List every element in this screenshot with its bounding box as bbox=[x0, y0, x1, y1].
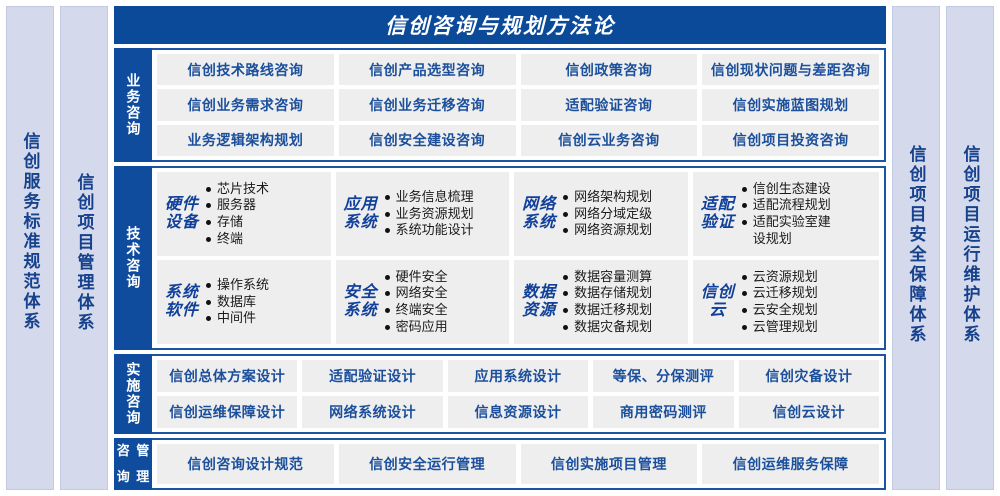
band-body-implementation-consulting: 信创总体方案设计 适配验证设计 应用系统设计 等保、分保测评 信创灾备设计 信创… bbox=[152, 354, 886, 434]
list-item[interactable]: 网络系统设计 bbox=[302, 396, 442, 428]
tech-card-hardware-items: 芯片技术 服务器 存储 终端 bbox=[205, 181, 325, 248]
tech-card-hardware-title: 硬件 设备 bbox=[165, 196, 199, 233]
pillar-operation-maintenance-label: 信创项目运行维护体系 bbox=[962, 145, 979, 345]
list-item[interactable]: 信创灾备设计 bbox=[739, 360, 879, 392]
list-item: 数据库 bbox=[205, 294, 325, 311]
pillar-service-standard: 信创服务标准规范体系 bbox=[6, 6, 54, 490]
tech-card-application-system[interactable]: 应用 系统 业务信息梳理 业务资源规划 系统功能设计 bbox=[336, 172, 510, 256]
band-label-char-4: 理 bbox=[136, 470, 149, 485]
list-item: 云管理规划 bbox=[741, 319, 873, 336]
list-item[interactable]: 等保、分保测评 bbox=[593, 360, 733, 392]
list-item: 密码应用 bbox=[384, 319, 504, 336]
list-item[interactable]: 适配验证咨询 bbox=[521, 89, 698, 120]
pillar-project-management: 信创项目管理体系 bbox=[60, 6, 108, 490]
list-item: 数据容量测算 bbox=[562, 269, 682, 286]
list-item: 适配实验室建 bbox=[741, 214, 873, 231]
band-business-consulting: 业务咨询 信创技术路线咨询 信创产品选型咨询 信创政策咨询 信创现状问题与差距咨… bbox=[114, 48, 886, 162]
band-label-implementation-consulting: 实施咨询 bbox=[114, 354, 152, 434]
tech-card-system-software-items: 操作系统 数据库 中间件 bbox=[205, 277, 325, 327]
list-item[interactable]: 信创运维保障设计 bbox=[157, 396, 297, 428]
list-item-continuation: 设规划 bbox=[741, 231, 873, 248]
list-item[interactable]: 信创政策咨询 bbox=[521, 54, 698, 85]
band-consulting-management: 咨 管 询 理 信创咨询设计规范 信创安全运行管理 信创实施项目管理 信创运维服… bbox=[114, 438, 886, 490]
table-row: 信创总体方案设计 适配验证设计 应用系统设计 等保、分保测评 信创灾备设计 bbox=[157, 360, 879, 392]
band-label-implementation-consulting-text: 实施咨询 bbox=[126, 362, 141, 426]
list-item[interactable]: 信创安全运行管理 bbox=[339, 444, 516, 484]
pillar-service-standard-label: 信创服务标准规范体系 bbox=[22, 132, 39, 332]
band-technical-consulting: 技术咨询 硬件 设备 芯片技术 服务器 存储 终端 bbox=[114, 166, 886, 350]
pillar-project-management-label: 信创项目管理体系 bbox=[76, 173, 93, 333]
band-label-business-consulting-text: 业务咨询 bbox=[126, 73, 141, 137]
list-item: 数据迁移规划 bbox=[562, 302, 682, 319]
table-row: 信创技术路线咨询 信创产品选型咨询 信创政策咨询 信创现状问题与差距咨询 bbox=[157, 54, 879, 85]
tech-card-data-resource-items: 数据容量测算 数据存储规划 数据迁移规划 数据灾备规划 bbox=[562, 269, 682, 336]
band-label-char-1: 咨 bbox=[117, 444, 130, 459]
tech-card-hardware[interactable]: 硬件 设备 芯片技术 服务器 存储 终端 bbox=[157, 172, 331, 256]
tech-card-network-system-items: 网络架构规划 网络分域定级 网络资源规划 bbox=[562, 189, 682, 239]
tech-card-data-resource[interactable]: 数据 资源 数据容量测算 数据存储规划 数据迁移规划 数据灾备规划 bbox=[514, 260, 688, 344]
list-item[interactable]: 信创云设计 bbox=[739, 396, 879, 428]
diagram-root: 信创服务标准规范体系 信创项目管理体系 信创咨询与规划方法论 业务咨询 信创技术… bbox=[0, 0, 1000, 496]
list-item: 终端安全 bbox=[384, 302, 504, 319]
list-item: 业务资源规划 bbox=[384, 206, 504, 223]
list-item: 网络资源规划 bbox=[562, 222, 682, 239]
center-column: 信创咨询与规划方法论 业务咨询 信创技术路线咨询 信创产品选型咨询 信创政策咨询… bbox=[114, 6, 886, 490]
table-row: 业务逻辑架构规划 信创安全建设咨询 信创云业务咨询 信创项目投资咨询 bbox=[157, 125, 879, 156]
list-item[interactable]: 应用系统设计 bbox=[448, 360, 588, 392]
list-item[interactable]: 信创云业务咨询 bbox=[521, 125, 698, 156]
list-item[interactable]: 信创实施项目管理 bbox=[521, 444, 698, 484]
list-item[interactable]: 信创产品选型咨询 bbox=[339, 54, 516, 85]
list-item[interactable]: 信创安全建设咨询 bbox=[339, 125, 516, 156]
list-item: 适配流程规划 bbox=[741, 197, 873, 214]
list-item[interactable]: 信创咨询设计规范 bbox=[157, 444, 334, 484]
tech-card-adaptation-verification-items: 信创生态建设 适配流程规划 适配实验室建 设规划 bbox=[741, 181, 873, 248]
diagram-title: 信创咨询与规划方法论 bbox=[114, 6, 886, 44]
list-item[interactable]: 信创现状问题与差距咨询 bbox=[702, 54, 879, 85]
band-label-technical-consulting: 技术咨询 bbox=[114, 166, 152, 350]
list-item: 服务器 bbox=[205, 197, 325, 214]
tech-card-application-system-title: 应用 系统 bbox=[344, 196, 378, 233]
list-item: 存储 bbox=[205, 214, 325, 231]
band-label-consulting-management: 咨 管 询 理 bbox=[114, 438, 152, 490]
list-item[interactable]: 信创运维服务保障 bbox=[702, 444, 879, 484]
list-item: 云资源规划 bbox=[741, 269, 873, 286]
tech-card-security-system-title: 安全 系统 bbox=[344, 284, 378, 321]
table-row: 信创咨询设计规范 信创安全运行管理 信创实施项目管理 信创运维服务保障 bbox=[157, 444, 879, 484]
list-item: 操作系统 bbox=[205, 277, 325, 294]
tech-card-application-system-items: 业务信息梳理 业务资源规划 系统功能设计 bbox=[384, 189, 504, 239]
tech-card-security-system[interactable]: 安全 系统 硬件安全 网络安全 终端安全 密码应用 bbox=[336, 260, 510, 344]
list-item: 中间件 bbox=[205, 310, 325, 327]
tech-card-xinchuang-cloud[interactable]: 信创 云 云资源规划 云迁移规划 云安全规划 云管理规划 bbox=[693, 260, 879, 344]
list-item: 云迁移规划 bbox=[741, 285, 873, 302]
band-label-char-3: 询 bbox=[117, 470, 130, 485]
list-item: 云安全规划 bbox=[741, 302, 873, 319]
list-item: 信创生态建设 bbox=[741, 181, 873, 198]
band-label-char-2: 管 bbox=[136, 444, 149, 459]
pillar-security-assurance-label: 信创项目安全保障体系 bbox=[908, 145, 925, 345]
list-item[interactable]: 信创实施蓝图规划 bbox=[702, 89, 879, 120]
tech-card-data-resource-title: 数据 资源 bbox=[522, 284, 556, 321]
list-item: 硬件安全 bbox=[384, 269, 504, 286]
list-item[interactable]: 信创总体方案设计 bbox=[157, 360, 297, 392]
band-body-consulting-management: 信创咨询设计规范 信创安全运行管理 信创实施项目管理 信创运维服务保障 bbox=[152, 438, 886, 490]
tech-card-xinchuang-cloud-title: 信创 云 bbox=[701, 284, 735, 321]
list-item: 网络架构规划 bbox=[562, 189, 682, 206]
list-item[interactable]: 信创业务需求咨询 bbox=[157, 89, 334, 120]
tech-card-network-system[interactable]: 网络 系统 网络架构规划 网络分域定级 网络资源规划 bbox=[514, 172, 688, 256]
tech-card-system-software[interactable]: 系统 软件 操作系统 数据库 中间件 bbox=[157, 260, 331, 344]
band-body-technical-consulting: 硬件 设备 芯片技术 服务器 存储 终端 应用 系统 bbox=[152, 166, 886, 350]
list-item[interactable]: 业务逻辑架构规划 bbox=[157, 125, 334, 156]
tech-card-security-system-items: 硬件安全 网络安全 终端安全 密码应用 bbox=[384, 269, 504, 336]
table-row: 硬件 设备 芯片技术 服务器 存储 终端 应用 系统 bbox=[157, 172, 879, 256]
list-item: 网络安全 bbox=[384, 285, 504, 302]
tech-card-system-software-title: 系统 软件 bbox=[165, 284, 199, 321]
list-item[interactable]: 信创技术路线咨询 bbox=[157, 54, 334, 85]
list-item[interactable]: 商用密码测评 bbox=[593, 396, 733, 428]
table-row: 信创业务需求咨询 信创业务迁移咨询 适配验证咨询 信创实施蓝图规划 bbox=[157, 89, 879, 120]
list-item: 芯片技术 bbox=[205, 181, 325, 198]
list-item[interactable]: 信创项目投资咨询 bbox=[702, 125, 879, 156]
list-item[interactable]: 信息资源设计 bbox=[448, 396, 588, 428]
tech-card-adaptation-verification[interactable]: 适配 验证 信创生态建设 适配流程规划 适配实验室建 设规划 bbox=[693, 172, 879, 256]
band-body-business-consulting: 信创技术路线咨询 信创产品选型咨询 信创政策咨询 信创现状问题与差距咨询 信创业… bbox=[152, 48, 886, 162]
pillar-security-assurance: 信创项目安全保障体系 bbox=[892, 6, 940, 490]
list-item: 数据灾备规划 bbox=[562, 319, 682, 336]
tech-card-adaptation-verification-title: 适配 验证 bbox=[701, 196, 735, 233]
tech-card-xinchuang-cloud-items: 云资源规划 云迁移规划 云安全规划 云管理规划 bbox=[741, 269, 873, 336]
list-item: 数据存储规划 bbox=[562, 285, 682, 302]
band-label-technical-consulting-text: 技术咨询 bbox=[126, 226, 141, 290]
list-item: 网络分域定级 bbox=[562, 206, 682, 223]
list-item: 业务信息梳理 bbox=[384, 189, 504, 206]
list-item: 系统功能设计 bbox=[384, 222, 504, 239]
table-row: 信创运维保障设计 网络系统设计 信息资源设计 商用密码测评 信创云设计 bbox=[157, 396, 879, 428]
band-implementation-consulting: 实施咨询 信创总体方案设计 适配验证设计 应用系统设计 等保、分保测评 信创灾备… bbox=[114, 354, 886, 434]
band-label-business-consulting: 业务咨询 bbox=[114, 48, 152, 162]
list-item[interactable]: 适配验证设计 bbox=[302, 360, 442, 392]
list-item: 终端 bbox=[205, 231, 325, 248]
list-item[interactable]: 信创业务迁移咨询 bbox=[339, 89, 516, 120]
table-row: 系统 软件 操作系统 数据库 中间件 安全 系统 bbox=[157, 260, 879, 344]
pillar-operation-maintenance: 信创项目运行维护体系 bbox=[946, 6, 994, 490]
tech-card-network-system-title: 网络 系统 bbox=[522, 196, 556, 233]
